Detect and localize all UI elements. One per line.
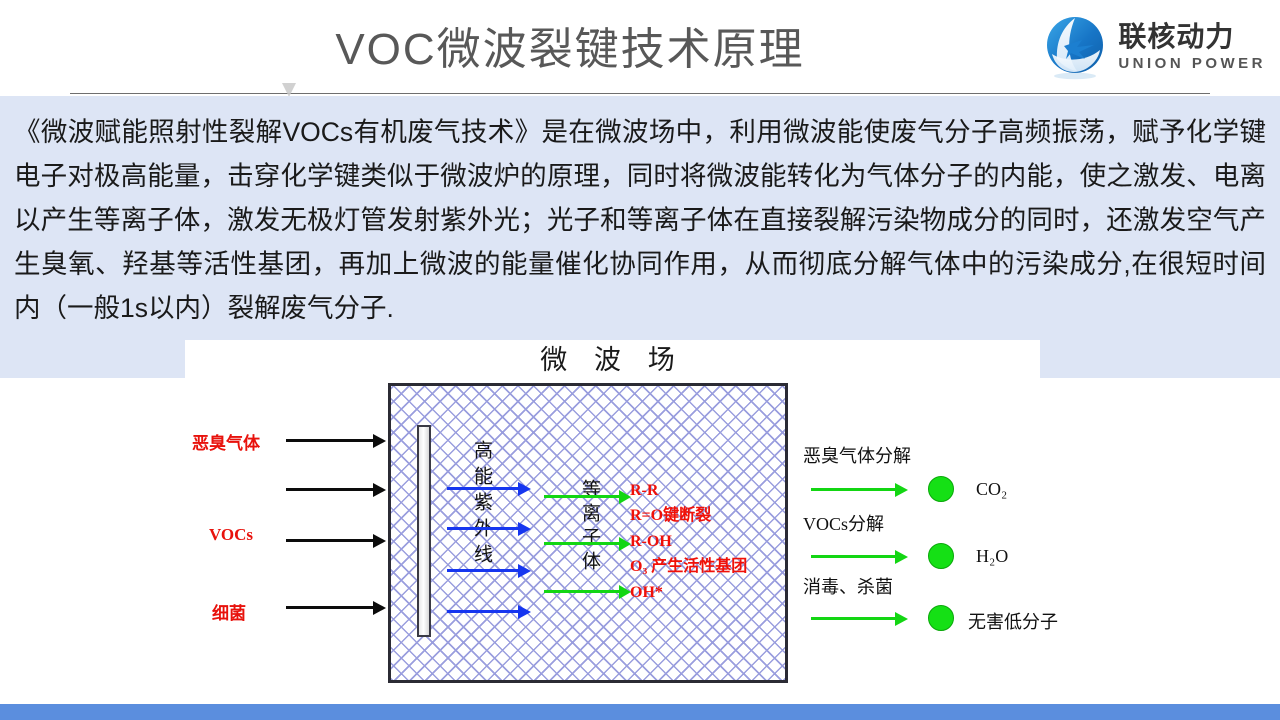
input-label-bacteria: 细菌 (212, 599, 246, 624)
reaction-formula-3: R-OH (630, 530, 672, 553)
product-dot-2 (928, 543, 954, 569)
plasma-vertical-label: 等离子体 (576, 479, 603, 615)
title-marker-triangle-icon (282, 83, 296, 97)
page-header: VOC微波裂键技术原理 (0, 0, 1280, 96)
output-label-disinfection: 消毒、杀菌 (803, 573, 893, 599)
reaction-formula-2: R=O键断裂 (630, 504, 711, 527)
reaction-formula-5: OH* (630, 581, 663, 604)
output-label-vocs: VOCs分解 (803, 510, 884, 536)
product-label-co2: CO₂ (976, 479, 1007, 500)
microwave-field-title: 微 波 场 (185, 342, 1040, 378)
product-dot-1 (928, 476, 954, 502)
process-diagram: 恶臭气体 VOCs 细菌 高能紫外线 等离子体 R-R R=O键断裂 R-OH (0, 378, 1280, 704)
intro-paragraph: 《微波赋能照射性裂解VOCs有机废气技术》是在微波场中，利用微波能使废气分子高频… (14, 110, 1266, 330)
footer-accent-bar (0, 704, 1280, 720)
logo-chinese-name: 联核动力 (1118, 23, 1266, 51)
uv-lamp-tube-icon (417, 425, 431, 637)
reaction-formula-1: R-R (630, 479, 658, 502)
reaction-formula-4: O₃ 产生活性基团 (630, 555, 747, 578)
logo-english-name: UNION POWER (1118, 56, 1266, 71)
globe-swoosh-logo-icon (1042, 14, 1108, 80)
uv-vertical-label: 高能紫外线 (468, 440, 495, 630)
logo-wordmark: 联核动力 UNION POWER (1118, 23, 1266, 71)
output-label-odor: 恶臭气体分解 (803, 442, 911, 468)
page-title: VOC微波裂键技术原理 (290, 22, 850, 80)
input-label-vocs: VOCs (209, 525, 253, 545)
product-dot-3 (928, 605, 954, 631)
input-label-odor: 恶臭气体 (192, 429, 260, 454)
intro-panel: 《微波赋能照射性裂解VOCs有机废气技术》是在微波场中，利用微波能使废气分子高频… (0, 96, 1280, 378)
company-logo: 联核动力 UNION POWER (1042, 12, 1266, 82)
product-label-h2o: H₂O (976, 546, 1008, 567)
product-label-harmless: 无害低分子 (968, 608, 1058, 634)
title-divider (70, 93, 1210, 94)
